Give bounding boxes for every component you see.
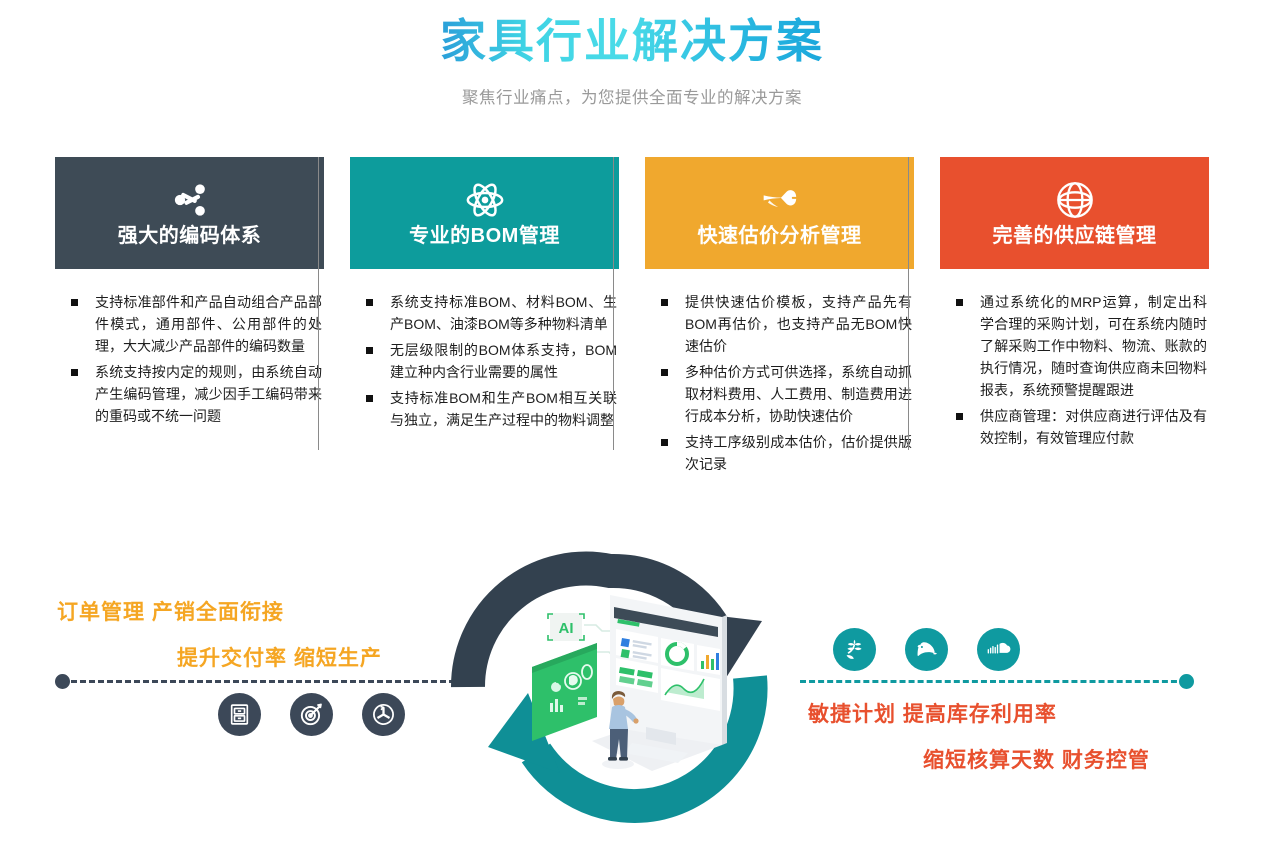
list-item: 支持标准部件和产品自动组合产品部件模式，通用部件、公用部件的处理，大大减少产品部…: [61, 291, 322, 357]
list-item: 多种估价方式可供选择，系统自动抓取材料费用、人工费用、制造费用进行成本分析，协助…: [651, 361, 912, 427]
card-header: 专业的BOM管理: [350, 157, 619, 269]
page-header: 家具行业解决方案 聚焦行业痛点，为您提供全面专业的解决方案: [0, 0, 1264, 108]
card-body: 通过系统化的MRP运算，制定出科学合理的采购计划，可在系统内随时了解采购工作中物…: [940, 269, 1209, 449]
page-subtitle: 聚焦行业痛点，为您提供全面专业的解决方案: [0, 84, 1264, 108]
feature-card-supply-chain[interactable]: 完善的供应链管理 通过系统化的MRP运算，制定出科学合理的采购计划，可在系统内随…: [940, 157, 1209, 479]
card-title: 快速估价分析管理: [698, 226, 862, 246]
feature-card-quick-pricing[interactable]: 快速估价分析管理 提供快速估价模板，支持产品先有BOM再估价，也支持产品无BOM…: [645, 157, 914, 479]
timeline-dashed-left: [62, 680, 464, 683]
right-phrase-1: 敏捷计划 提高库存利用率: [808, 698, 1057, 728]
ai-label: AI: [559, 620, 574, 637]
card-title: 强大的编码体系: [118, 226, 262, 246]
list-item: 提供快速估价模板，支持产品先有BOM再估价，也支持产品无BOM快速估价: [651, 291, 912, 357]
list-item: 无层级限制的BOM体系支持，BOM建立种内含行业需要的属性: [356, 339, 617, 383]
card-body: 提供快速估价模板，支持产品先有BOM再估价，也支持产品无BOM快速估价 多种估价…: [645, 269, 914, 475]
card-title: 专业的BOM管理: [409, 226, 560, 246]
card-body: 系统支持标准BOM、材料BOM、生产BOM、油漆BOM等多种物料清单 无层级限制…: [350, 269, 619, 431]
card-header: 快速估价分析管理: [645, 157, 914, 269]
bullet-list: 提供快速估价模板，支持产品先有BOM再估价，也支持产品无BOM快速估价 多种估价…: [651, 291, 912, 475]
left-phrase-1: 订单管理 产销全面衔接: [57, 596, 284, 626]
ai-green-panel: [532, 643, 597, 741]
left-icon-row: [218, 693, 405, 736]
left-phrase-2: 提升交付率 缩短生产: [177, 642, 382, 672]
page-title: 家具行业解决方案: [440, 14, 824, 68]
list-item: 供应商管理：对供应商进行评估及有效控制，有效管理应付款: [946, 405, 1207, 449]
right-icon-row: [833, 628, 1020, 671]
card-header: 完善的供应链管理: [940, 157, 1209, 269]
timeline-dot-left: [55, 674, 70, 689]
globe-icon: [1055, 180, 1095, 220]
leaf-plant-icon[interactable]: [833, 628, 876, 671]
list-item: 支持工序级别成本估价，估价提供版次记录: [651, 431, 912, 475]
bullet-list: 系统支持标准BOM、材料BOM、生产BOM、油漆BOM等多种物料清单 无层级限制…: [356, 291, 617, 431]
list-item: 支持标准BOM和生产BOM相互关联与独立，满足生产过程中的物料调整: [356, 387, 617, 431]
timeline-dot-right: [1179, 674, 1194, 689]
list-item: 通过系统化的MRP运算，制定出科学合理的采购计划，可在系统内随时了解采购工作中物…: [946, 291, 1207, 401]
feature-card-coding-system[interactable]: 强大的编码体系 支持标准部件和产品自动组合产品部件模式，通用部件、公用部件的处理…: [55, 157, 324, 479]
card-title: 完善的供应链管理: [993, 226, 1157, 246]
feature-cards: 强大的编码体系 支持标准部件和产品自动组合产品部件模式，通用部件、公用部件的处理…: [0, 157, 1264, 479]
feature-card-bom-management[interactable]: 专业的BOM管理 系统支持标准BOM、材料BOM、生产BOM、油漆BOM等多种物…: [350, 157, 619, 479]
card-body: 支持标准部件和产品自动组合产品部件模式，通用部件、公用部件的处理，大大减少产品部…: [55, 269, 324, 427]
soundcloud-icon[interactable]: [977, 628, 1020, 671]
file-cabinet-icon[interactable]: [218, 693, 261, 736]
target-arrow-icon[interactable]: [290, 693, 333, 736]
bullet-list: 通过系统化的MRP运算，制定出科学合理的采购计划，可在系统内随时了解采购工作中物…: [946, 291, 1207, 449]
timeline-dashed-right: [800, 680, 1186, 683]
card-header: 强大的编码体系: [55, 157, 324, 269]
globe-recycle-icon[interactable]: [362, 693, 405, 736]
bullet-list: 支持标准部件和产品自动组合产品部件模式，通用部件、公用部件的处理，大大减少产品部…: [61, 291, 322, 427]
central-illustration: AI: [432, 521, 832, 850]
list-item: 系统支持标准BOM、材料BOM、生产BOM、油漆BOM等多种物料清单: [356, 291, 617, 335]
space-shuttle-icon: [760, 180, 800, 220]
whale-icon[interactable]: [905, 628, 948, 671]
right-phrase-2: 缩短核算天数 财务控管: [923, 744, 1150, 774]
list-item: 系统支持按内定的规则，由系统自动产生编码管理，减少因手工编码带来的重码或不统一问…: [61, 361, 322, 427]
share-nodes-icon: [170, 180, 210, 220]
atom-icon: [465, 180, 505, 220]
